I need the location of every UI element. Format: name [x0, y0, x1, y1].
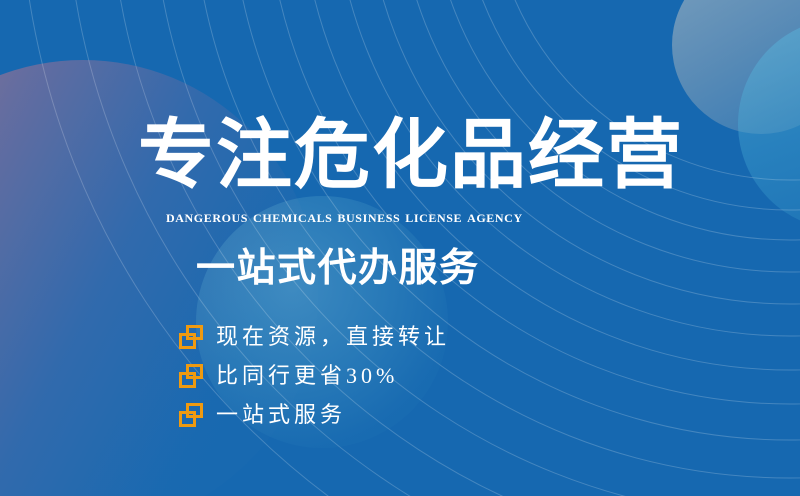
banner-content: 专注危化品经营 DANGEROUS CHEMICALS BUSINESS LIC…: [0, 0, 800, 496]
page-title: 专注危化品经营: [138, 112, 684, 198]
list-item: 一站式服务: [178, 396, 450, 434]
overlapping-squares-icon: [178, 363, 204, 389]
list-item-label: 现在资源，直接转让: [216, 324, 450, 350]
promo-banner: 专注危化品经营 DANGEROUS CHEMICALS BUSINESS LIC…: [0, 0, 800, 496]
list-item: 比同行更省30%: [178, 357, 450, 395]
list-item: 现在资源，直接转让: [178, 318, 450, 356]
feature-list: 现在资源，直接转让 比同行更省30% 一站式: [178, 318, 450, 435]
overlapping-squares-icon: [178, 324, 204, 350]
subtitle-english: DANGEROUS CHEMICALS BUSINESS LICENSE AGE…: [166, 206, 523, 226]
overlapping-squares-icon: [178, 402, 204, 428]
list-item-label: 比同行更省30%: [216, 363, 398, 389]
list-item-label: 一站式服务: [216, 402, 346, 428]
secondary-headline: 一站式代办服务: [196, 246, 480, 292]
